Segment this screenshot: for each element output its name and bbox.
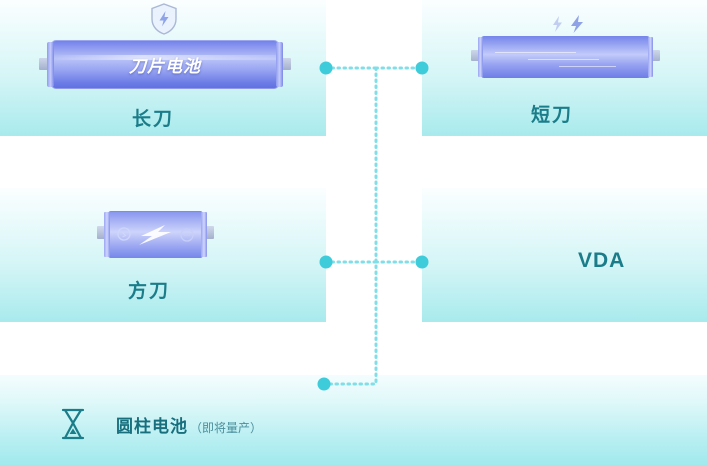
double-bolt-icon <box>549 14 595 34</box>
label-vda: VDA <box>578 249 625 273</box>
cell-body <box>481 36 650 78</box>
cylindrical-battery-row[interactable]: 圆柱电池（即将量产） <box>58 405 262 443</box>
label-square-blade: 方刀 <box>128 276 170 303</box>
shield-bolt-icon <box>149 2 179 36</box>
label-short-blade: 短刀 <box>531 100 573 127</box>
cell-endcap-left <box>104 212 110 257</box>
label-cylindrical-note: （即将量产） <box>190 421 262 435</box>
cell-endcap-left <box>478 37 483 77</box>
cell-endcap-right <box>648 37 653 77</box>
cell-tab-right <box>282 58 291 70</box>
cell-tab-right <box>206 226 214 239</box>
cell-caption-blade-battery: 刀片电池 <box>47 40 283 89</box>
square-blade-cell-graphic <box>104 211 207 258</box>
cell-endcap-right <box>201 212 207 257</box>
cell-body <box>108 211 203 258</box>
cell-tab-right <box>652 50 660 61</box>
long-blade-cell-graphic: 刀片电池 <box>47 40 283 89</box>
diagram-canvas: 刀片电池 <box>0 0 707 466</box>
hourglass-icon <box>58 407 88 441</box>
short-blade-cell-graphic <box>478 36 653 78</box>
bolt-icon <box>108 211 203 258</box>
label-long-blade: 长刀 <box>132 104 174 131</box>
label-cylindrical-battery: 圆柱电池（即将量产） <box>116 412 262 437</box>
label-cylindrical-text: 圆柱电池 <box>116 417 188 436</box>
panel-vda[interactable] <box>422 188 707 322</box>
